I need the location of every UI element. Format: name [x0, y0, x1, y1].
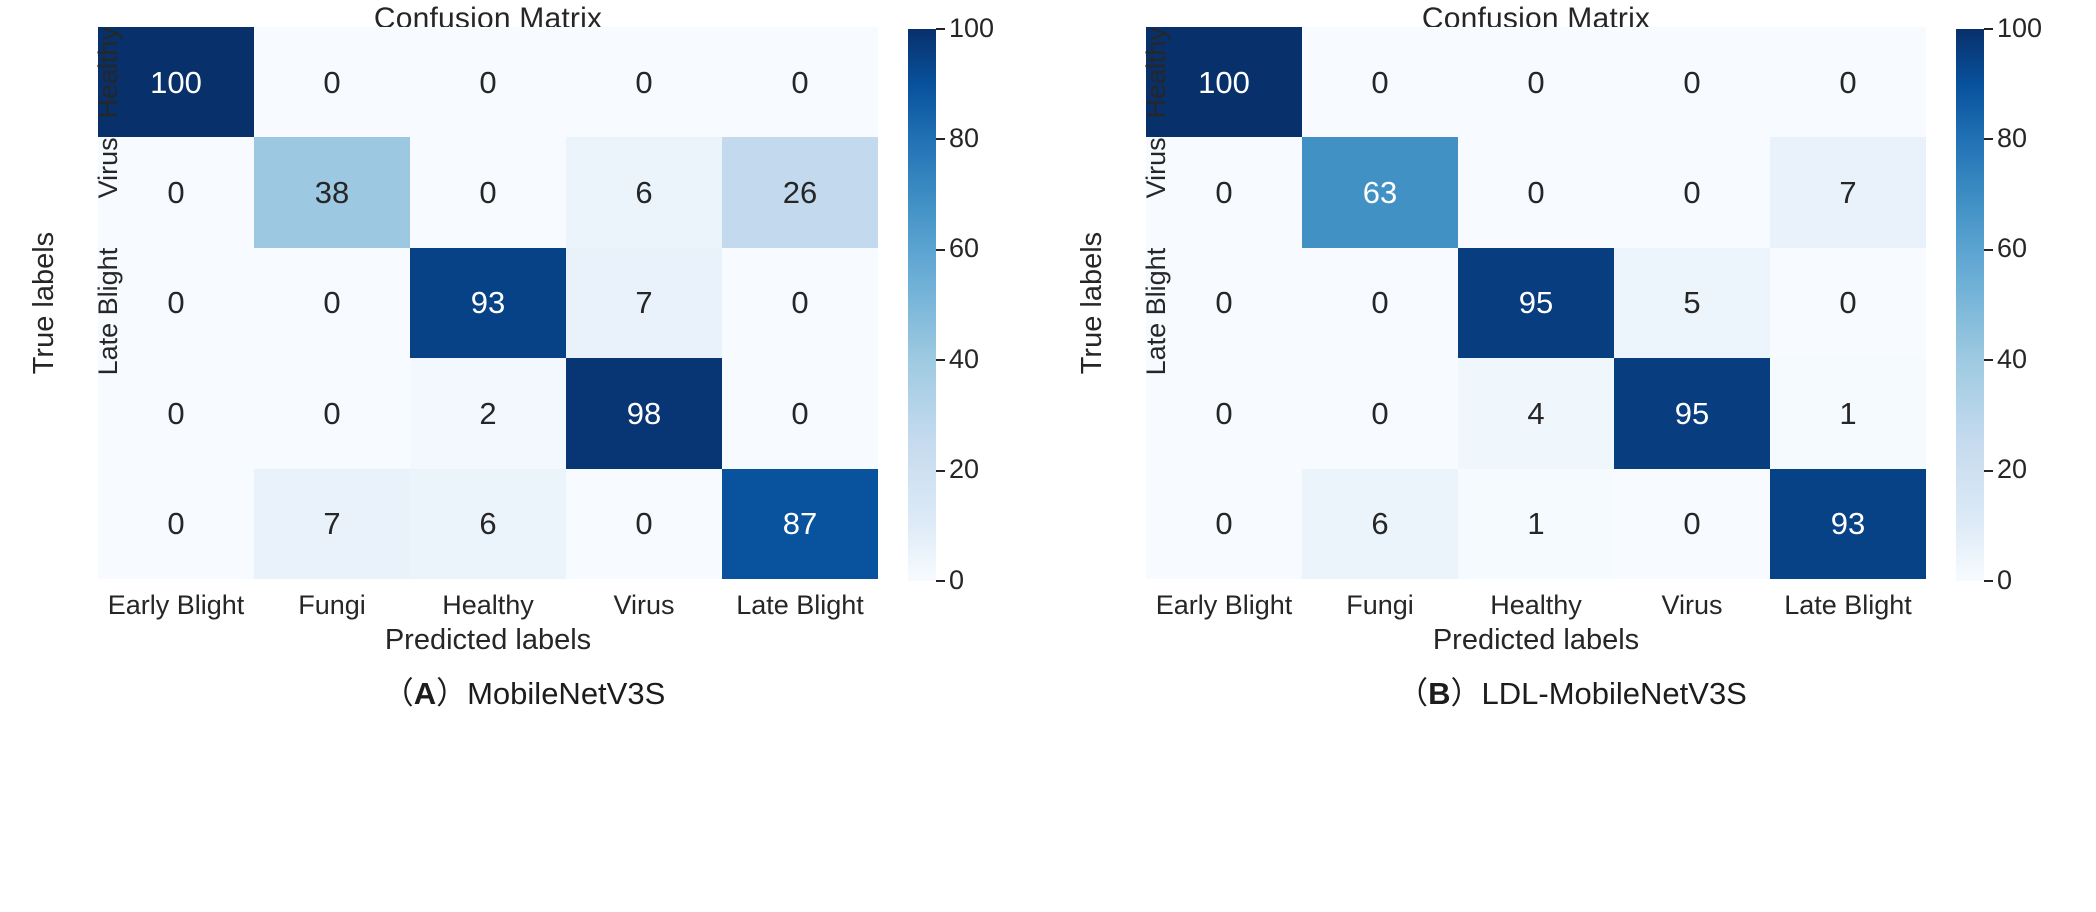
panel-a-cell-r0-c1: 0: [254, 27, 410, 137]
panel-b-cell-r1-c3: 0: [1614, 137, 1770, 247]
panel-a-caption-letter: A: [414, 676, 436, 711]
panel-a-caption-close-paren: ）: [436, 676, 467, 711]
panel-a-colorbar-tick-dash-2: [936, 359, 945, 361]
panel-b-colorbar-tick-value-0: 0: [1997, 567, 2012, 594]
panel-a-heatmap-axes: 10000000380626009370002980076087: [98, 27, 878, 579]
panel-a-x-tick-3: Virus: [566, 584, 722, 626]
panel-b-caption: （B）LDL-MobileNetV3S: [1068, 668, 2076, 713]
confusion-matrix-figure: Confusion Matrix 10000000380626009370002…: [0, 0, 2096, 912]
panel-b-x-tick-2: Healthy: [1458, 584, 1614, 626]
panel-a-cell-r3-c1: 0: [254, 358, 410, 468]
panel-b-cell-r1-c4: 7: [1770, 137, 1926, 247]
panel-b-colorbar-tick-dash-5: [1984, 28, 1993, 30]
panel-a-caption-open-paren: （: [383, 676, 414, 711]
panel-a-cell-r0-c2: 0: [410, 27, 566, 137]
panel-b-cell-r1-c2: 0: [1458, 137, 1614, 247]
panel-b-heatmap-axes: 1000000063007009550004951061093: [1146, 27, 1926, 579]
panel-a-cell-r3-c4: 0: [722, 358, 878, 468]
panel-a-colorbar-tick-dash-0: [936, 580, 945, 582]
panel-b-caption-letter: B: [1428, 676, 1450, 711]
panel-b-cell-r4-c4: 93: [1770, 469, 1926, 579]
panel-b-y-tick-4: Late Blight: [1141, 248, 1172, 800]
panel-a-cell-r2-c3: 7: [566, 248, 722, 358]
panel-a-colorbar-tick-value-5: 100: [949, 15, 994, 42]
panel-b-cell-r3-c3: 95: [1614, 358, 1770, 468]
panel-a-cell-r2-c4: 0: [722, 248, 878, 358]
panel-a: Confusion Matrix 10000000380626009370002…: [0, 0, 1048, 912]
panel-a-caption: （A）MobileNetV3S: [20, 668, 1028, 713]
panel-a-cell-r1-c4: 26: [722, 137, 878, 247]
panel-a-colorbar-gradient: [908, 29, 936, 581]
panel-a-x-tick-2: Healthy: [410, 584, 566, 626]
panel-b: Confusion Matrix 10000000630070095500049…: [1048, 0, 2096, 912]
panel-b-cell-r1-c1: 63: [1302, 137, 1458, 247]
panel-b-colorbar-tick-dash-3: [1984, 249, 1993, 251]
panel-a-colorbar-ticks: 020406080100: [936, 29, 1028, 581]
panel-b-colorbar-tick-value-1: 20: [1997, 456, 2027, 483]
panel-a-x-axis-label: Predicted labels: [98, 624, 878, 657]
panel-a-x-tick-4: Late Blight: [722, 584, 878, 626]
panel-a-colorbar-tick-dash-3: [936, 249, 945, 251]
panel-b-cell-r3-c1: 0: [1302, 358, 1458, 468]
panel-b-colorbar-tick-dash-0: [1984, 580, 1993, 582]
panel-a-y-tick-4: Late Blight: [93, 248, 124, 800]
panel-a-cell-r4-c1: 7: [254, 469, 410, 579]
panel-a-cell-r0-c3: 0: [566, 27, 722, 137]
panel-b-x-tick-labels: Early BlightFungiHealthyVirusLate Blight: [1146, 584, 1926, 626]
panel-a-cell-r4-c3: 0: [566, 469, 722, 579]
panel-a-cell-r0-c4: 0: [722, 27, 878, 137]
panel-a-cell-r2-c2: 93: [410, 248, 566, 358]
panel-b-colorbar-tick-value-2: 40: [1997, 346, 2027, 373]
panel-b-cell-r3-c2: 4: [1458, 358, 1614, 468]
panel-a-colorbar-tick-value-4: 80: [949, 125, 979, 152]
panel-a-colorbar-tick-dash-1: [936, 470, 945, 472]
panel-a-colorbar-tick-dash-5: [936, 28, 945, 30]
panel-b-caption-close-paren: ）: [1451, 676, 1482, 711]
panel-b-colorbar-ticks: 020406080100: [1984, 29, 2076, 581]
panel-b-cell-r2-c2: 95: [1458, 248, 1614, 358]
panel-b-x-tick-3: Virus: [1614, 584, 1770, 626]
panel-a-cell-r3-c3: 98: [566, 358, 722, 468]
panel-b-cell-r2-c3: 5: [1614, 248, 1770, 358]
panel-b-colorbar-tick-value-3: 60: [1997, 235, 2027, 262]
panel-b-x-axis-label: Predicted labels: [1146, 624, 1926, 657]
panel-b-cell-r3-c4: 1: [1770, 358, 1926, 468]
panel-a-colorbar-tick-value-2: 40: [949, 346, 979, 373]
panel-a-caption-model: MobileNetV3S: [467, 676, 665, 711]
panel-a-colorbar-tick-value-1: 20: [949, 456, 979, 483]
panel-b-x-tick-1: Fungi: [1302, 584, 1458, 626]
panel-a-cell-r2-c1: 0: [254, 248, 410, 358]
panel-b-colorbar-tick-dash-2: [1984, 359, 1993, 361]
panel-b-colorbar: 020406080100: [1956, 29, 2076, 581]
panel-b-colorbar-tick-dash-1: [1984, 470, 1993, 472]
panel-a-colorbar: 020406080100: [908, 29, 1028, 581]
panel-b-cell-r4-c3: 0: [1614, 469, 1770, 579]
panel-b-colorbar-tick-value-5: 100: [1997, 15, 2042, 42]
panel-b-cell-r0-c1: 0: [1302, 27, 1458, 137]
panel-b-x-tick-0: Early Blight: [1146, 584, 1302, 626]
panel-a-colorbar-tick-value-3: 60: [949, 235, 979, 262]
panel-b-colorbar-gradient: [1956, 29, 1984, 581]
panel-b-caption-open-paren: （: [1397, 676, 1428, 711]
panel-a-cell-r1-c3: 6: [566, 137, 722, 247]
panel-b-cell-r2-c4: 0: [1770, 248, 1926, 358]
panel-a-ylabel-text: True labels: [28, 27, 61, 579]
panel-b-cell-r0-c4: 0: [1770, 27, 1926, 137]
panel-a-cell-r1-c2: 0: [410, 137, 566, 247]
panel-a-x-tick-0: Early Blight: [98, 584, 254, 626]
panel-a-cell-r3-c2: 2: [410, 358, 566, 468]
panel-a-colorbar-tick-dash-4: [936, 138, 945, 140]
panel-a-cell-r4-c2: 6: [410, 469, 566, 579]
panel-b-ylabel-text: True labels: [1076, 27, 1109, 579]
panel-b-x-tick-4: Late Blight: [1770, 584, 1926, 626]
panel-a-x-tick-1: Fungi: [254, 584, 410, 626]
panel-b-cell-r4-c1: 6: [1302, 469, 1458, 579]
panel-a-cell-r1-c1: 38: [254, 137, 410, 247]
panel-b-colorbar-tick-dash-4: [1984, 138, 1993, 140]
panel-b-colorbar-tick-value-4: 80: [1997, 125, 2027, 152]
panel-a-colorbar-tick-value-0: 0: [949, 567, 964, 594]
panel-a-x-tick-labels: Early BlightFungiHealthyVirusLate Blight: [98, 584, 878, 626]
panel-b-cell-r4-c2: 1: [1458, 469, 1614, 579]
panel-b-caption-model: LDL-MobileNetV3S: [1482, 676, 1747, 711]
panel-b-heatmap-grid: 1000000063007009550004951061093: [1146, 27, 1926, 579]
panel-a-cell-r4-c4: 87: [722, 469, 878, 579]
panel-b-cell-r0-c3: 0: [1614, 27, 1770, 137]
panel-b-cell-r2-c1: 0: [1302, 248, 1458, 358]
panel-a-heatmap-grid: 10000000380626009370002980076087: [98, 27, 878, 579]
panel-b-cell-r0-c2: 0: [1458, 27, 1614, 137]
